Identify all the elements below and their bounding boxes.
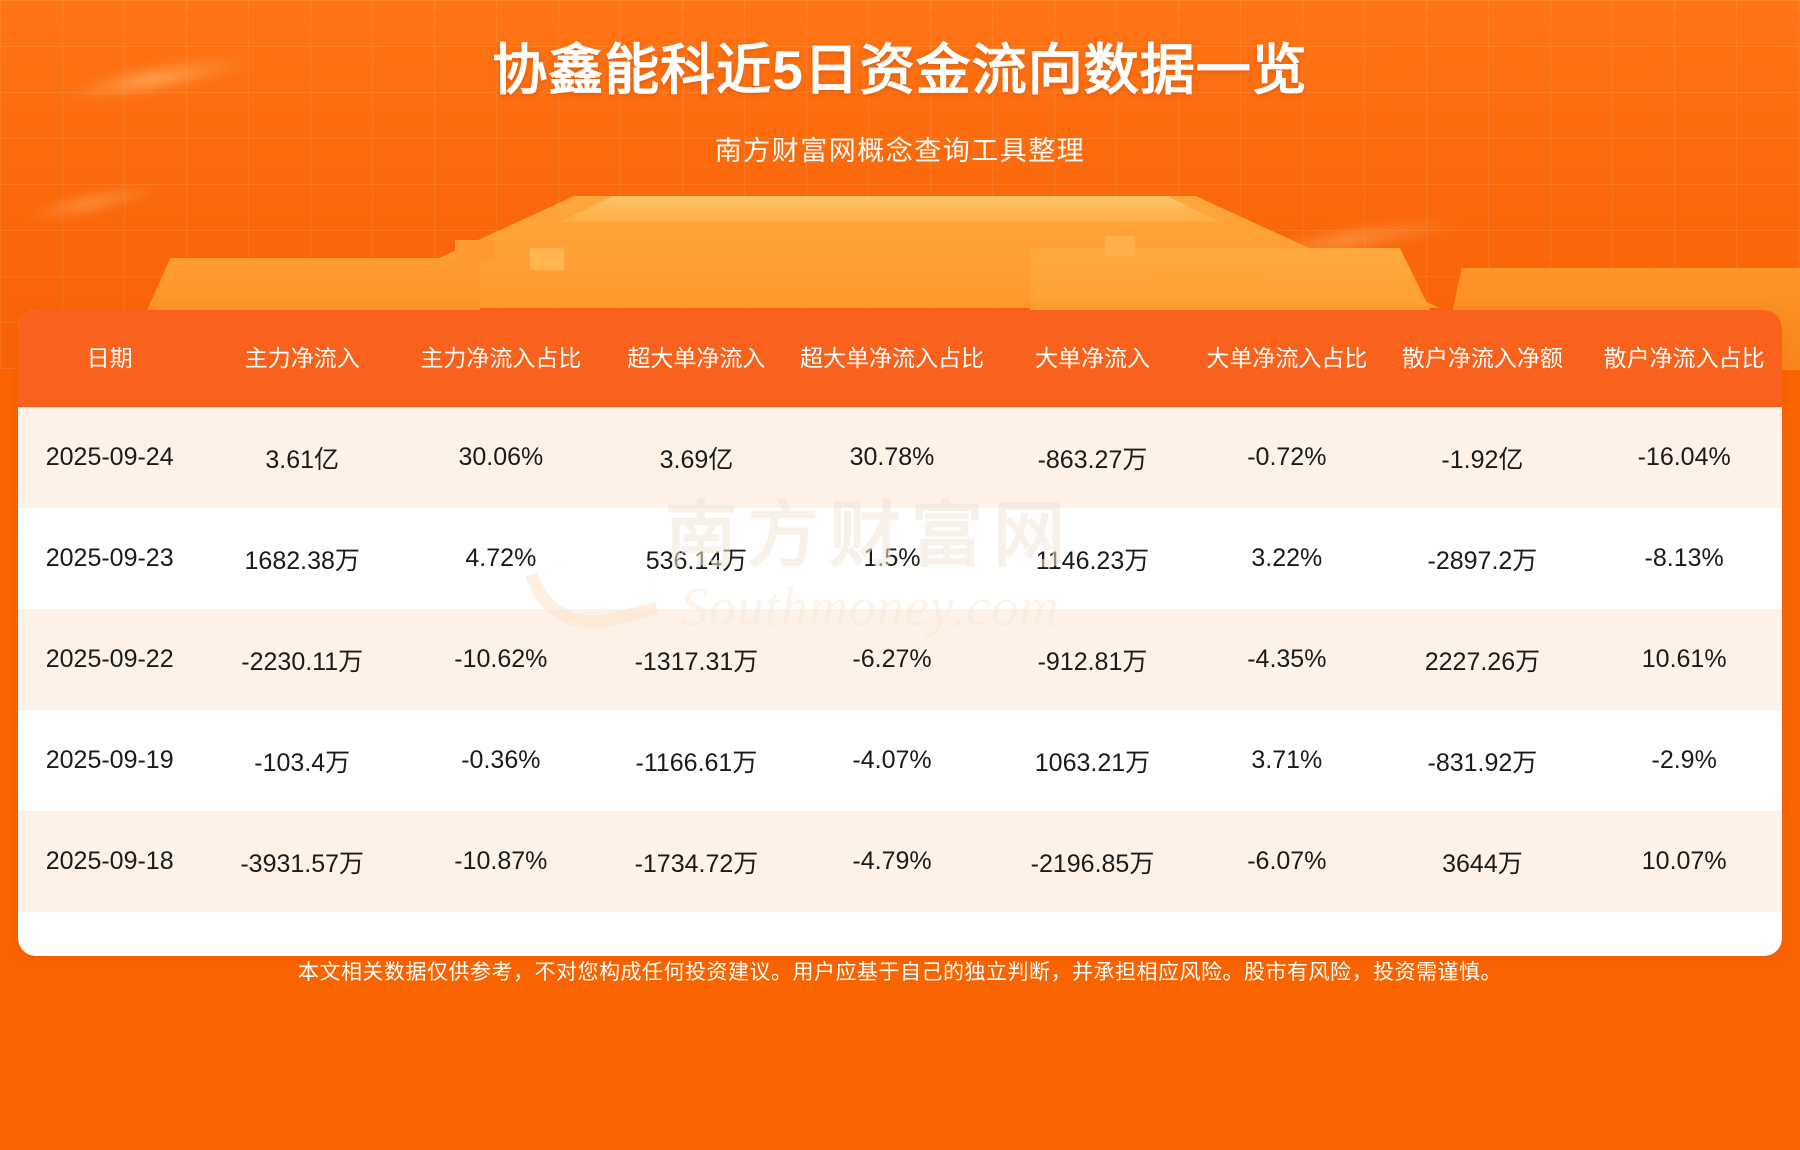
cell-date: 2025-09-22 (18, 609, 201, 710)
cell-xl-pct: 30.78% (794, 407, 990, 508)
table-row: 2025-09-24 3.61亿 30.06% 3.69亿 30.78% -86… (18, 407, 1782, 508)
cell-retail-net: -1.92亿 (1379, 407, 1587, 508)
table-body: 2025-09-24 3.61亿 30.06% 3.69亿 30.78% -86… (18, 407, 1782, 912)
cell-main-net: -3931.57万 (201, 811, 403, 912)
cell-xl-net: -1734.72万 (599, 811, 795, 912)
cell-big-pct: -4.35% (1195, 609, 1378, 710)
table-header: 日期 主力净流入 主力净流入占比 超大单净流入 超大单净流入占比 大单净流入 大… (18, 310, 1782, 407)
disclaimer-text: 本文相关数据仅供参考，不对您构成任何投资建议。用户应基于自己的独立判断，并承担相… (0, 956, 1800, 986)
data-table-card: 日期 主力净流入 主力净流入占比 超大单净流入 超大单净流入占比 大单净流入 大… (18, 310, 1782, 956)
cell-big-net: 1063.21万 (990, 710, 1195, 811)
podium-notch (530, 248, 564, 270)
cell-date: 2025-09-23 (18, 508, 201, 609)
cell-retail-net: 2227.26万 (1379, 609, 1587, 710)
cell-big-net: -2196.85万 (990, 811, 1195, 912)
page-subtitle: 南方财富网概念查询工具整理 (0, 129, 1800, 168)
podium-notch (1105, 236, 1135, 256)
column-header-main-net: 主力净流入 (201, 310, 403, 407)
cell-main-net: 3.61亿 (201, 407, 403, 508)
cell-main-net: 1682.38万 (201, 508, 403, 609)
cell-date: 2025-09-19 (18, 710, 201, 811)
cell-retail-pct: -2.9% (1586, 710, 1782, 811)
cell-main-pct: -10.87% (403, 811, 599, 912)
cell-xl-net: 536.14万 (599, 508, 795, 609)
column-header-retail-pct: 散户净流入占比 (1586, 310, 1782, 407)
cell-xl-net: -1166.61万 (599, 710, 795, 811)
column-header-retail-net: 散户净流入净额 (1379, 310, 1587, 407)
column-header-date: 日期 (18, 310, 201, 407)
cell-big-pct: 3.71% (1195, 710, 1378, 811)
cell-big-pct: -6.07% (1195, 811, 1378, 912)
column-header-big-net: 大单净流入 (990, 310, 1195, 407)
cell-xl-pct: -6.27% (794, 609, 990, 710)
podium-notch (455, 240, 495, 262)
column-header-big-pct: 大单净流入占比 (1195, 310, 1378, 407)
cell-big-net: -912.81万 (990, 609, 1195, 710)
podium-shape-center-top (560, 196, 1220, 222)
footer: 本文相关数据仅供参考，不对您构成任何投资建议。用户应基于自己的独立判断，并承担相… (0, 956, 1800, 986)
cell-retail-pct: 10.61% (1586, 609, 1782, 710)
column-header-xl-net: 超大单净流入 (599, 310, 795, 407)
cell-big-net: 1146.23万 (990, 508, 1195, 609)
cell-main-pct: -0.36% (403, 710, 599, 811)
table-row: 2025-09-23 1682.38万 4.72% 536.14万 1.5% 1… (18, 508, 1782, 609)
cell-big-pct: -0.72% (1195, 407, 1378, 508)
cell-xl-pct: 1.5% (794, 508, 990, 609)
cell-main-pct: 30.06% (403, 407, 599, 508)
cell-xl-pct: -4.79% (794, 811, 990, 912)
cell-retail-net: -831.92万 (1379, 710, 1587, 811)
fund-flow-table: 日期 主力净流入 主力净流入占比 超大单净流入 超大单净流入占比 大单净流入 大… (18, 310, 1782, 912)
table-header-row: 日期 主力净流入 主力净流入占比 超大单净流入 超大单净流入占比 大单净流入 大… (18, 310, 1782, 407)
cell-xl-net: 3.69亿 (599, 407, 795, 508)
cell-retail-net: 3644万 (1379, 811, 1587, 912)
cell-retail-pct: -16.04% (1586, 407, 1782, 508)
cell-big-pct: 3.22% (1195, 508, 1378, 609)
cell-main-pct: 4.72% (403, 508, 599, 609)
cell-retail-pct: -8.13% (1586, 508, 1782, 609)
cell-date: 2025-09-24 (18, 407, 201, 508)
table-row: 2025-09-22 -2230.11万 -10.62% -1317.31万 -… (18, 609, 1782, 710)
column-header-main-pct: 主力净流入占比 (403, 310, 599, 407)
cell-big-net: -863.27万 (990, 407, 1195, 508)
cell-retail-net: -2897.2万 (1379, 508, 1587, 609)
cell-date: 2025-09-18 (18, 811, 201, 912)
cell-main-pct: -10.62% (403, 609, 599, 710)
header-text-block: 协鑫能科近5日资金流向数据一览 南方财富网概念查询工具整理 (0, 38, 1800, 168)
cell-xl-net: -1317.31万 (599, 609, 795, 710)
table-row: 2025-09-18 -3931.57万 -10.87% -1734.72万 -… (18, 811, 1782, 912)
column-header-xl-pct: 超大单净流入占比 (794, 310, 990, 407)
cell-retail-pct: 10.07% (1586, 811, 1782, 912)
page-title: 协鑫能科近5日资金流向数据一览 (0, 38, 1800, 103)
table-row: 2025-09-19 -103.4万 -0.36% -1166.61万 -4.0… (18, 710, 1782, 811)
cell-main-net: -2230.11万 (201, 609, 403, 710)
cell-xl-pct: -4.07% (794, 710, 990, 811)
cell-main-net: -103.4万 (201, 710, 403, 811)
